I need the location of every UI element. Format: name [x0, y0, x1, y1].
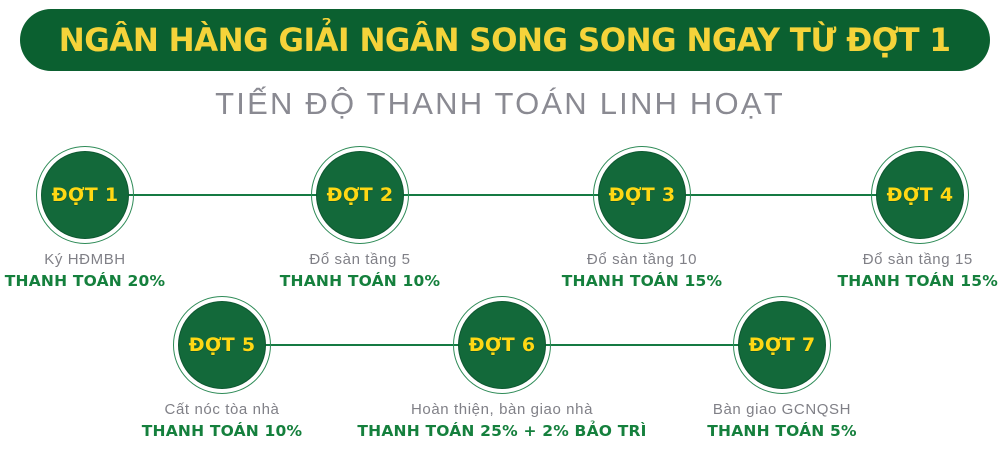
header-banner: NGÂN HÀNG GIẢI NGÂN SONG SONG NGAY TỪ ĐỢ…	[20, 9, 990, 71]
dot-3-amount: THANH TOÁN 15%	[562, 271, 722, 291]
dot-7-description: Bàn giao GCNQSH	[707, 400, 857, 420]
page-subtitle: TIẾN ĐỘ THANH TOÁN LINH HOẠT	[0, 86, 1000, 122]
dot-3-description: Đổ sàn tầng 10	[562, 250, 722, 270]
dot-5-circle[interactable]: ĐỢT 5	[173, 296, 271, 394]
payment-schedule-infographic: NGÂN HÀNG GIẢI NGÂN SONG SONG NGAY TỪ ĐỢ…	[0, 0, 1000, 463]
dot-1-description: Ký HĐMBH	[5, 250, 165, 270]
banner-title: NGÂN HÀNG GIẢI NGÂN SONG SONG NGAY TỪ ĐỢ…	[59, 24, 951, 56]
milestone-dot-7[interactable]: ĐỢT 7Bàn giao GCNQSHTHANH TOÁN 5%	[733, 296, 831, 394]
milestone-dot-2[interactable]: ĐỢT 2Đổ sàn tầng 5THANH TOÁN 10%	[311, 146, 409, 244]
milestone-dot-1[interactable]: ĐỢT 1Ký HĐMBHTHANH TOÁN 20%	[36, 146, 134, 244]
dot-4-amount: THANH TOÁN 15%	[838, 271, 998, 291]
dot-7-circle[interactable]: ĐỢT 7	[733, 296, 831, 394]
dot-2-caption: Đổ sàn tầng 5THANH TOÁN 10%	[280, 250, 440, 291]
dot-1-amount: THANH TOÁN 20%	[5, 271, 165, 291]
dot-6-amount: THANH TOÁN 25% + 2% BẢO TRÌ	[357, 421, 646, 441]
dot-5-caption: Cất nóc tòa nhàTHANH TOÁN 10%	[142, 400, 302, 441]
dot-1-label: ĐỢT 1	[52, 184, 119, 206]
dot-2-description: Đổ sàn tầng 5	[280, 250, 440, 270]
dot-7-amount: THANH TOÁN 5%	[707, 421, 857, 441]
dot-2-amount: THANH TOÁN 10%	[280, 271, 440, 291]
dot-3-label: ĐỢT 3	[609, 184, 676, 206]
dot-6-description: Hoàn thiện, bàn giao nhà	[357, 400, 646, 420]
dot-6-caption: Hoàn thiện, bàn giao nhàTHANH TOÁN 25% +…	[357, 400, 646, 441]
dot-7-caption: Bàn giao GCNQSHTHANH TOÁN 5%	[707, 400, 857, 441]
milestone-dot-6[interactable]: ĐỢT 6Hoàn thiện, bàn giao nhàTHANH TOÁN …	[453, 296, 551, 394]
dot-4-caption: Đổ sàn tầng 15THANH TOÁN 15%	[838, 250, 998, 291]
dot-3-caption: Đổ sàn tầng 10THANH TOÁN 15%	[562, 250, 722, 291]
dot-5-label: ĐỢT 5	[189, 334, 256, 356]
dot-4-label: ĐỢT 4	[887, 184, 954, 206]
dot-3-circle[interactable]: ĐỢT 3	[593, 146, 691, 244]
dot-1-circle[interactable]: ĐỢT 1	[36, 146, 134, 244]
dot-6-circle[interactable]: ĐỢT 6	[453, 296, 551, 394]
dot-5-amount: THANH TOÁN 10%	[142, 421, 302, 441]
milestone-dot-5[interactable]: ĐỢT 5Cất nóc tòa nhàTHANH TOÁN 10%	[173, 296, 271, 394]
dot-2-label: ĐỢT 2	[327, 184, 394, 206]
dot-7-label: ĐỢT 7	[749, 334, 816, 356]
dot-6-label: ĐỢT 6	[469, 334, 536, 356]
dot-1-caption: Ký HĐMBHTHANH TOÁN 20%	[5, 250, 165, 291]
dot-5-description: Cất nóc tòa nhà	[142, 400, 302, 420]
dot-4-description: Đổ sàn tầng 15	[838, 250, 998, 270]
milestone-dot-4[interactable]: ĐỢT 4Đổ sàn tầng 15THANH TOÁN 15%	[871, 146, 969, 244]
dot-2-circle[interactable]: ĐỢT 2	[311, 146, 409, 244]
milestone-dot-3[interactable]: ĐỢT 3Đổ sàn tầng 10THANH TOÁN 15%	[593, 146, 691, 244]
dot-4-circle[interactable]: ĐỢT 4	[871, 146, 969, 244]
